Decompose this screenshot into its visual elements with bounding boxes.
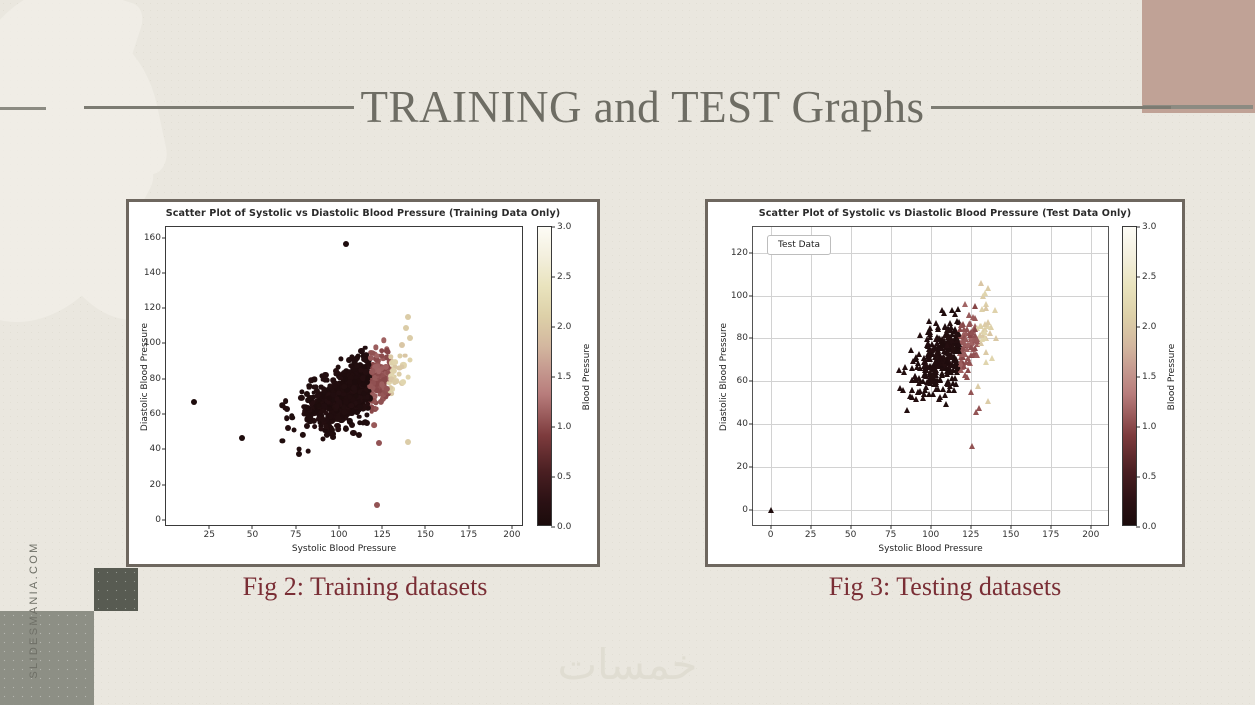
y-tick-label: 120 <box>144 303 161 313</box>
data-point <box>956 341 962 347</box>
gridline-vertical <box>971 227 972 525</box>
x-tick-mark <box>1050 525 1051 529</box>
y-tick-mark <box>162 484 166 485</box>
page-title: TRAINING and TEST Graphs <box>360 85 924 130</box>
colorbar-tick-label: 2.0 <box>1142 322 1156 332</box>
data-point <box>930 373 936 379</box>
data-point <box>933 386 939 392</box>
x-tick-label: 200 <box>503 530 520 540</box>
colorbar-title: Blood Pressure <box>582 344 592 411</box>
y-tick-label: 40 <box>737 419 748 429</box>
data-point <box>993 335 999 341</box>
data-point <box>933 320 939 326</box>
caption-test: Fig 3: Testing datasets <box>700 572 1190 602</box>
test-axes: 0204060801001200255075100125150175200Sys… <box>752 226 1109 526</box>
colorbar-tick <box>551 277 555 278</box>
x-tick-label: 50 <box>845 530 856 540</box>
data-point <box>327 395 332 400</box>
colorbar-tick-label: 3.0 <box>557 222 571 232</box>
colorbar-tick-label: 3.0 <box>1142 222 1156 232</box>
data-point <box>323 378 328 383</box>
data-point <box>361 391 367 397</box>
data-point <box>357 420 363 426</box>
y-axis-title: Diastolic Blood Pressure <box>140 323 150 431</box>
data-point <box>374 406 379 411</box>
y-tick-label: 140 <box>144 268 161 278</box>
y-tick-label: 80 <box>737 333 748 343</box>
data-point <box>992 307 998 313</box>
y-tick-mark <box>162 308 166 309</box>
colorbar-tick-label: 1.5 <box>1142 372 1156 382</box>
data-point <box>353 394 358 399</box>
data-point <box>952 375 958 381</box>
colorbar-tick-label: 0.5 <box>1142 472 1156 482</box>
x-axis-title: Systolic Blood Pressure <box>166 544 522 554</box>
y-tick-mark <box>162 449 166 450</box>
data-point <box>901 369 907 375</box>
data-point <box>939 372 945 378</box>
data-point <box>915 389 921 395</box>
data-point <box>904 407 910 413</box>
gridline-vertical <box>851 227 852 525</box>
caption-training: Fig 2: Training datasets <box>130 572 600 602</box>
outlier-point <box>191 399 197 405</box>
outlier-point <box>343 241 349 247</box>
data-point <box>298 395 304 401</box>
y-tick-mark <box>749 295 753 296</box>
x-tick-label: 125 <box>374 530 391 540</box>
data-point <box>338 356 343 361</box>
colorbar-tick <box>551 327 555 328</box>
y-tick-mark <box>162 378 166 379</box>
data-point <box>944 342 950 348</box>
y-tick-label: 0 <box>155 515 161 525</box>
colorbar-tick <box>551 227 555 228</box>
data-point <box>284 415 290 421</box>
data-point <box>908 347 914 353</box>
data-point <box>926 391 932 397</box>
data-point <box>961 351 967 357</box>
data-point <box>356 432 362 438</box>
x-tick-mark <box>209 525 210 529</box>
colorbar: 0.00.51.01.52.02.53.0Blood Pressure <box>1122 226 1137 526</box>
data-point <box>334 404 340 410</box>
colorbar-tick <box>1136 327 1140 328</box>
data-point <box>300 432 306 438</box>
y-tick-label: 120 <box>731 248 748 258</box>
gridline-horizontal <box>753 510 1108 511</box>
x-tick-mark <box>890 525 891 529</box>
data-point <box>351 385 357 391</box>
x-tick-mark <box>1010 525 1011 529</box>
data-point <box>406 375 411 380</box>
colorbar-title: Blood Pressure <box>1167 344 1177 411</box>
y-tick-mark <box>162 237 166 238</box>
data-point <box>989 355 995 361</box>
data-point <box>982 321 988 327</box>
data-point <box>902 364 908 370</box>
colorbar: 0.00.51.01.52.02.53.0Blood Pressure <box>537 226 552 526</box>
outlier-point <box>407 335 413 341</box>
outlier-point <box>969 443 975 449</box>
outlier-point <box>985 285 991 291</box>
data-point <box>927 325 933 331</box>
data-point <box>372 423 378 429</box>
data-point <box>307 415 313 421</box>
figure-test: Scatter Plot of Systolic vs Diastolic Bl… <box>705 199 1185 567</box>
y-tick-label: 0 <box>742 505 748 515</box>
outlier-point <box>296 451 302 457</box>
data-point <box>913 396 919 402</box>
x-tick-mark <box>850 525 851 529</box>
data-point <box>341 409 347 415</box>
colorbar-tick <box>551 427 555 428</box>
x-tick-mark <box>810 525 811 529</box>
gridline-vertical <box>1091 227 1092 525</box>
data-point <box>361 356 367 362</box>
data-point <box>365 402 370 407</box>
gridline-vertical <box>1051 227 1052 525</box>
outlier-point <box>376 440 382 446</box>
data-point <box>351 409 356 414</box>
data-point <box>962 301 968 307</box>
data-point <box>937 360 943 366</box>
y-tick-mark <box>162 519 166 520</box>
data-point <box>907 393 913 399</box>
data-point <box>958 367 964 373</box>
data-point <box>935 326 941 332</box>
data-point <box>949 361 955 367</box>
colorbar-tick <box>1136 377 1140 378</box>
x-tick-label: 25 <box>805 530 816 540</box>
colorbar-tick-label: 2.0 <box>557 322 571 332</box>
data-point <box>917 332 923 338</box>
slide-heading: TRAINING and TEST Graphs <box>0 78 1255 136</box>
data-point <box>280 438 285 443</box>
y-tick-label: 40 <box>150 444 161 454</box>
colorbar-tick <box>1136 527 1140 528</box>
data-point <box>341 384 347 390</box>
data-point <box>357 414 362 419</box>
y-tick-mark <box>749 509 753 510</box>
y-tick-mark <box>162 343 166 344</box>
x-tick-mark <box>511 525 512 529</box>
training-chart-title: Scatter Plot of Systolic vs Diastolic Bl… <box>129 208 597 219</box>
data-point <box>925 340 931 346</box>
outlier-point <box>985 398 991 404</box>
x-tick-label: 150 <box>417 530 434 540</box>
y-tick-label: 80 <box>150 374 161 384</box>
data-point <box>326 400 331 405</box>
data-point <box>983 305 989 311</box>
y-tick-label: 100 <box>731 291 748 301</box>
data-point <box>900 387 906 393</box>
data-point <box>397 372 402 377</box>
data-point <box>397 365 402 370</box>
data-point <box>370 369 376 375</box>
data-point <box>283 398 289 404</box>
data-point <box>943 401 949 407</box>
y-axis-title: Diastolic Blood Pressure <box>719 323 729 431</box>
x-tick-label: 175 <box>1042 530 1059 540</box>
outlier-point <box>768 507 774 513</box>
colorbar-tick-label: 0.0 <box>1142 522 1156 532</box>
outlier-point <box>976 405 982 411</box>
data-point <box>983 349 989 355</box>
y-tick-label: 20 <box>737 462 748 472</box>
y-tick-mark <box>749 338 753 339</box>
data-point <box>929 364 935 370</box>
chart-legend[interactable]: Test Data <box>767 235 831 255</box>
data-point <box>312 424 318 430</box>
khamsat-watermark: خمسات <box>0 640 1255 689</box>
x-tick-label: 200 <box>1082 530 1099 540</box>
outlier-point <box>405 314 411 320</box>
figure-training: Scatter Plot of Systolic vs Diastolic Bl… <box>126 199 600 567</box>
data-point <box>974 336 980 342</box>
gridline-vertical <box>771 227 772 525</box>
data-point <box>926 318 932 324</box>
data-point <box>364 412 369 417</box>
x-tick-label: 175 <box>460 530 477 540</box>
data-point <box>312 377 317 382</box>
x-tick-mark <box>468 525 469 529</box>
data-point <box>398 353 403 358</box>
outlier-point <box>239 435 245 441</box>
colorbar-tick-label: 1.0 <box>557 422 571 432</box>
data-point <box>305 397 311 403</box>
data-point <box>968 344 974 350</box>
data-point <box>949 331 955 337</box>
colorbar-tick <box>551 527 555 528</box>
colorbar-tick-label: 1.5 <box>557 372 571 382</box>
data-point <box>352 357 358 363</box>
data-point <box>961 326 967 332</box>
gridline-horizontal <box>753 467 1108 468</box>
x-tick-label: 125 <box>962 530 979 540</box>
x-tick-mark <box>930 525 931 529</box>
y-tick-label: 60 <box>150 409 161 419</box>
data-point <box>290 415 296 421</box>
colorbar-tick-label: 2.5 <box>557 272 571 282</box>
data-point <box>921 391 927 397</box>
colorbar-tick <box>551 477 555 478</box>
data-point <box>972 303 978 309</box>
x-tick-label: 75 <box>885 530 896 540</box>
y-tick-mark <box>162 272 166 273</box>
data-point <box>307 385 312 390</box>
data-point <box>335 396 340 401</box>
y-tick-mark <box>749 467 753 468</box>
colorbar-tick <box>1136 477 1140 478</box>
training-axes: 0204060801001201401602550751001251501752… <box>165 226 523 526</box>
data-point <box>909 365 915 371</box>
data-point <box>941 310 947 316</box>
colorbar-tick-label: 2.5 <box>1142 272 1156 282</box>
data-point <box>392 379 398 385</box>
data-point <box>975 383 981 389</box>
test-plot-area: Scatter Plot of Systolic vs Diastolic Bl… <box>708 202 1182 564</box>
training-plot-area: Scatter Plot of Systolic vs Diastolic Bl… <box>129 202 597 564</box>
data-point <box>283 406 288 411</box>
data-point <box>938 342 944 348</box>
y-tick-mark <box>749 424 753 425</box>
y-tick-mark <box>162 414 166 415</box>
test-chart-title: Scatter Plot of Systolic vs Diastolic Bl… <box>708 208 1182 219</box>
data-point <box>972 315 978 321</box>
outlier-point <box>374 502 380 508</box>
data-point <box>962 372 968 378</box>
y-tick-label: 20 <box>150 480 161 490</box>
data-point <box>349 403 355 409</box>
gridline-vertical <box>891 227 892 525</box>
y-tick-label: 160 <box>144 233 161 243</box>
data-point <box>378 399 384 405</box>
data-point <box>400 379 406 385</box>
colorbar-tick-label: 1.0 <box>1142 422 1156 432</box>
y-tick-label: 60 <box>737 376 748 386</box>
data-point <box>408 357 413 362</box>
colorbar-tick-label: 0.0 <box>557 522 571 532</box>
x-tick-mark <box>1090 525 1091 529</box>
x-tick-mark <box>382 525 383 529</box>
y-tick-mark <box>749 381 753 382</box>
outlier-point <box>968 389 974 395</box>
colorbar-tick <box>1136 427 1140 428</box>
data-point <box>317 398 322 403</box>
data-point <box>974 352 980 358</box>
gridline-horizontal <box>753 296 1108 297</box>
gridline-vertical <box>1011 227 1012 525</box>
outlier-point <box>403 325 409 331</box>
x-tick-label: 150 <box>1002 530 1019 540</box>
data-point <box>978 280 984 286</box>
x-tick-label: 100 <box>330 530 347 540</box>
x-tick-label: 25 <box>204 530 215 540</box>
data-point <box>322 371 328 377</box>
data-point <box>373 345 378 350</box>
y-tick-mark <box>749 252 753 253</box>
x-tick-mark <box>970 525 971 529</box>
x-tick-mark <box>252 525 253 529</box>
data-point <box>376 368 382 374</box>
data-point <box>381 337 386 342</box>
data-point <box>966 359 972 365</box>
x-tick-mark <box>770 525 771 529</box>
colorbar-tick-label: 0.5 <box>557 472 571 482</box>
data-point <box>403 353 408 358</box>
data-point <box>983 359 989 365</box>
data-point <box>917 378 923 384</box>
colorbar-tick <box>1136 277 1140 278</box>
heading-rule-right <box>931 106 1171 109</box>
data-point <box>953 348 959 354</box>
gridline-horizontal <box>753 424 1108 425</box>
data-point <box>305 449 310 454</box>
data-point <box>291 428 296 433</box>
colorbar-tick <box>1136 227 1140 228</box>
x-tick-label: 100 <box>922 530 939 540</box>
decor-block-dark <box>94 568 138 611</box>
x-tick-mark <box>338 525 339 529</box>
x-tick-label: 0 <box>768 530 774 540</box>
x-tick-label: 75 <box>290 530 301 540</box>
gridline-vertical <box>811 227 812 525</box>
outlier-point <box>913 356 919 362</box>
data-point <box>944 371 950 377</box>
x-axis-title: Systolic Blood Pressure <box>753 544 1108 554</box>
heading-rule-left <box>84 106 354 109</box>
data-point <box>952 311 958 317</box>
data-point <box>946 387 952 393</box>
data-point <box>955 306 961 312</box>
slide-canvas: TRAINING and TEST Graphs Scatter Plot of… <box>0 0 1255 705</box>
outlier-point <box>405 439 411 445</box>
x-tick-mark <box>425 525 426 529</box>
x-tick-mark <box>295 525 296 529</box>
data-point <box>321 404 327 410</box>
data-point <box>392 360 398 366</box>
data-point <box>982 335 988 341</box>
data-point <box>982 329 988 335</box>
colorbar-tick <box>551 377 555 378</box>
data-point <box>399 342 405 348</box>
x-tick-label: 50 <box>247 530 258 540</box>
